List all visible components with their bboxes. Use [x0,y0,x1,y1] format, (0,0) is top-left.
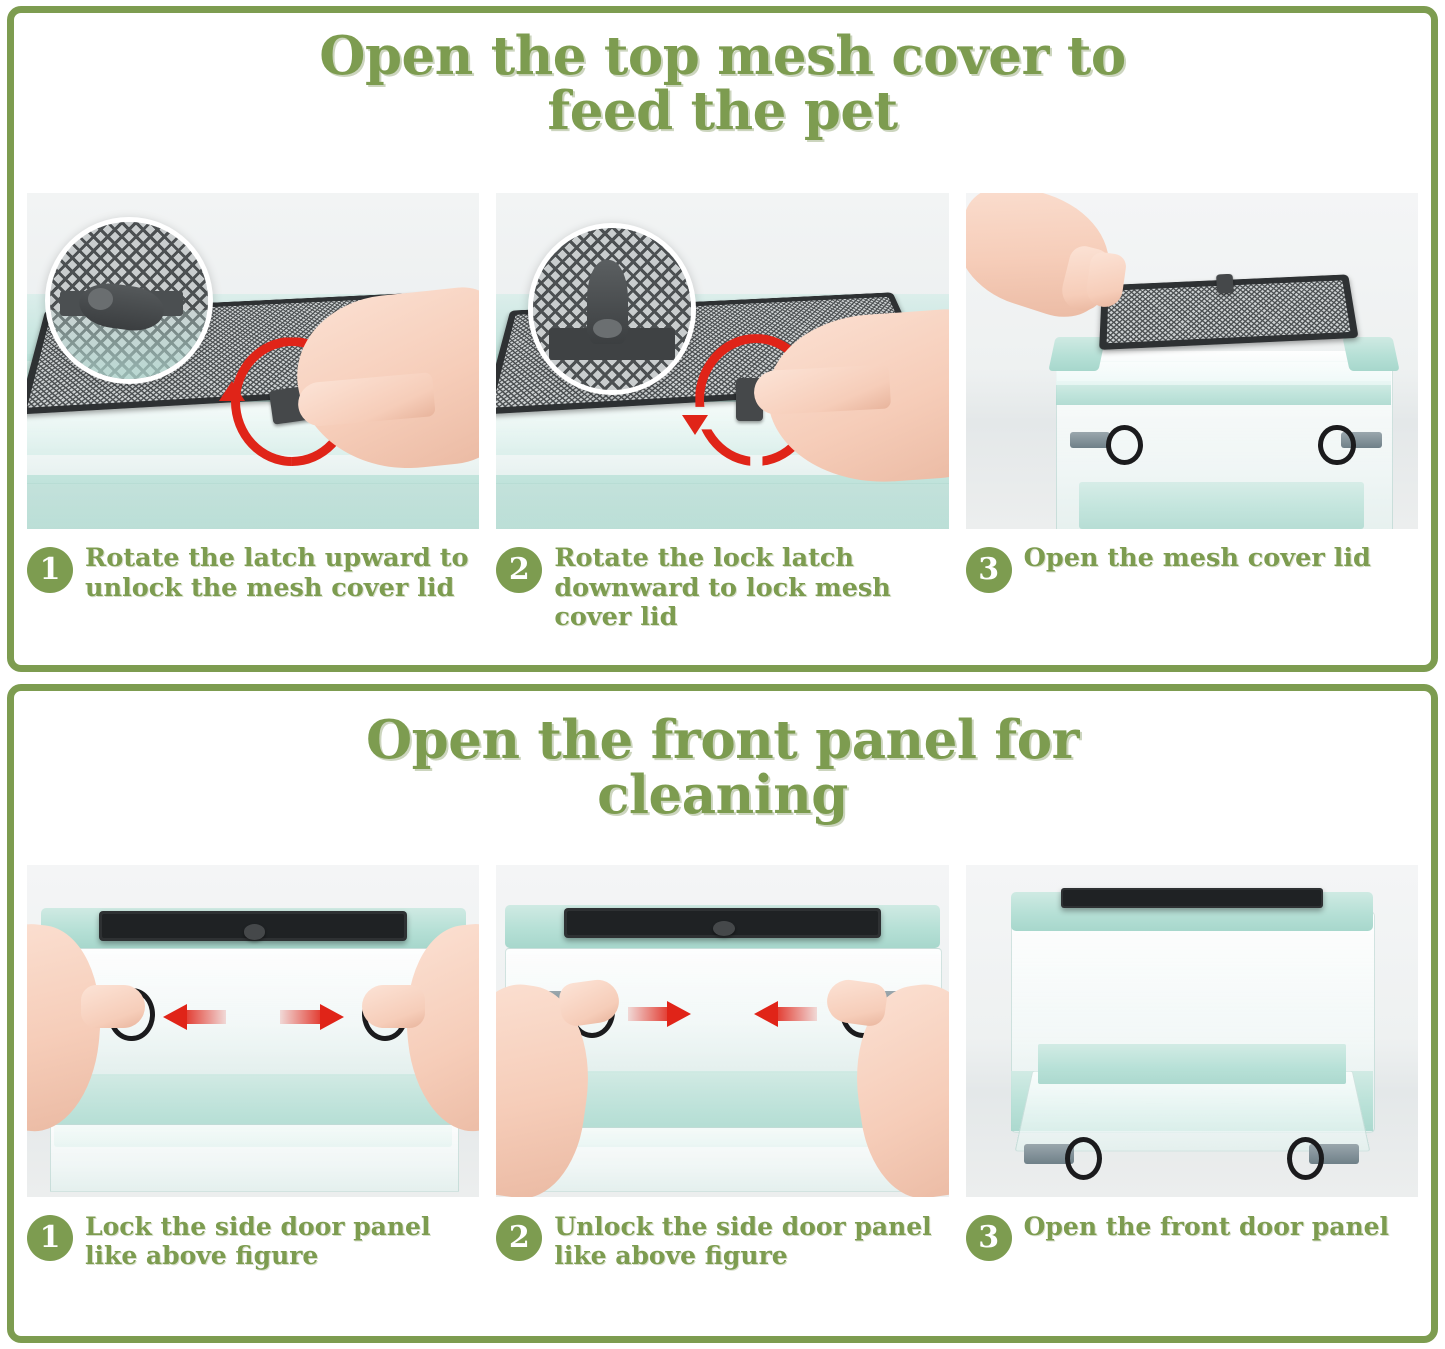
section-front-panel-cleaning: Open the front panel for cleaning [7,684,1438,1343]
magnifier-inset-latch-locked [528,223,696,394]
caption-step-2: 2 Rotate the lock latch downward to lock… [496,544,948,633]
photo-step2-unlock-side-door [496,865,948,1197]
step-caption-text: Lock the side door panel like above figu… [85,1212,479,1270]
corner-handle-left [1048,337,1105,371]
step-number-badge: 1 [27,547,73,593]
step-number-badge: 2 [496,1215,542,1261]
caption-step-1: 1 Lock the side door panel like above fi… [27,1212,479,1270]
corner-handle-right [1342,337,1399,371]
rotate-arrow-head-icon [682,415,708,435]
photo-step3-open-mesh-cover [966,193,1418,529]
step-number-badge: 3 [966,547,1012,593]
photo-row-bottom [27,865,1418,1197]
photo-step2-rotate-latch-down [496,193,948,529]
arrow-right-icon [280,1004,343,1030]
step-number-badge: 3 [966,1215,1012,1261]
arrow-left-icon [754,1001,817,1027]
step-number-badge: 1 [27,1215,73,1261]
magnifier-inset-latch-unlocked [45,217,213,385]
caption-step-2: 2 Unlock the side door panel like above … [496,1212,948,1270]
photo-row-top [27,193,1418,529]
mesh-cover-lid-lifted [1099,274,1359,349]
step-caption-text: Rotate the lock latch downward to lock m… [554,544,948,633]
rotate-arrow-head-icon [219,381,245,401]
page-title-top: Open the top mesh cover to feed the pet [14,13,1431,138]
page-title-bottom: Open the front panel for cleaning [14,691,1431,822]
caption-row-bottom: 1 Lock the side door panel like above fi… [27,1212,1418,1270]
ring-latch-left[interactable] [1106,425,1143,465]
step-caption-text: Unlock the side door panel like above fi… [554,1212,948,1270]
ring-latch-right[interactable] [1318,425,1355,465]
infographic-sheet: Open the top mesh cover to feed the pet [0,0,1445,1349]
photo-step3-front-door-open [966,865,1418,1197]
caption-step-1: 1 Rotate the latch upward to unlock the … [27,544,479,633]
step-caption-text: Rotate the latch upward to unlock the me… [85,544,479,603]
section-top-mesh-cover: Open the top mesh cover to feed the pet [7,6,1438,672]
caption-step-3: 3 Open the mesh cover lid [966,544,1418,633]
photo-step1-lock-side-door [27,865,479,1197]
caption-row-top: 1 Rotate the latch upward to unlock the … [27,544,1418,633]
photo-step1-rotate-latch-up [27,193,479,529]
step-caption-text: Open the mesh cover lid [1024,544,1371,574]
step-caption-text: Open the front door panel [1024,1212,1389,1241]
arrow-right-icon [628,1001,691,1027]
caption-step-3: 3 Open the front door panel [966,1212,1418,1270]
step-number-badge: 2 [496,547,542,593]
arrow-left-icon [163,1004,226,1030]
ring-latch-right[interactable] [1287,1137,1324,1180]
index-finger [753,364,891,415]
